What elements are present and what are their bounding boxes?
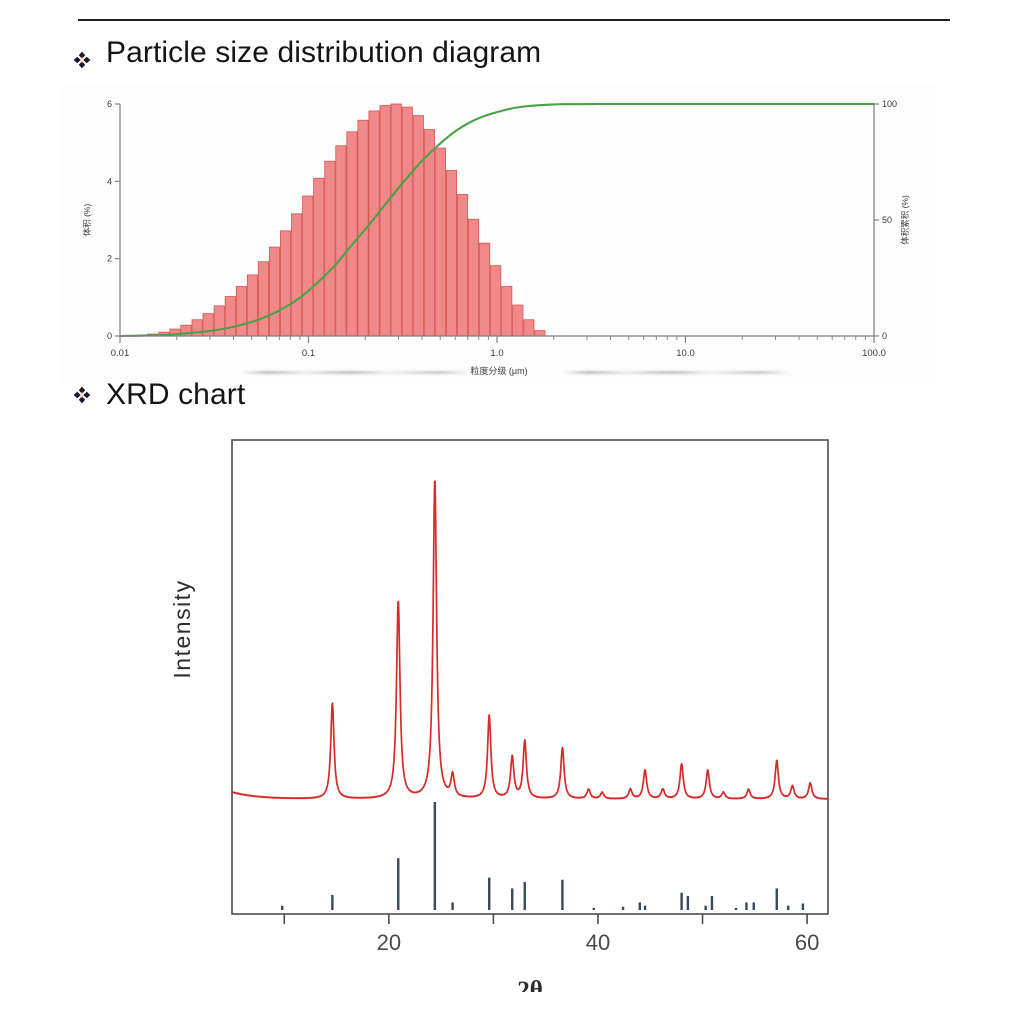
psd-histogram-bar [280, 231, 290, 336]
psd-histogram-bars [148, 104, 545, 336]
psd-histogram-bar [225, 297, 235, 336]
psd-histogram-bar [435, 148, 445, 336]
psd-y-axis-title: 体积 (%) [82, 204, 92, 237]
psd-y-tick-label: 6 [107, 99, 112, 109]
psd-y2-axis-title: 体积累积 (%) [900, 195, 910, 245]
psd-histogram-bar [203, 314, 213, 336]
particle-size-distribution-chart: 02460501000.010.11.010.0100.0体积 (%)体积累积 … [62, 84, 936, 384]
xrd-y-axis-title: Intensity [169, 579, 195, 678]
psd-histogram-bar [292, 214, 302, 336]
section-heading-label: Particle size distribution diagram [106, 38, 541, 68]
psd-y-tick-label: 0 [107, 331, 112, 341]
psd-histogram-bar [491, 266, 501, 336]
xrd-x-tick-label: 60 [795, 930, 819, 955]
psd-y-ticks: 0246 [107, 99, 120, 341]
xrd-chart: 2040602θIntensity [168, 432, 868, 992]
psd-histogram-bar [269, 247, 279, 336]
diamond-cluster-bullet-icon [72, 50, 92, 70]
psd-histogram-bar [424, 130, 434, 336]
section-heading-particle-size: Particle size distribution diagram [72, 38, 541, 68]
xrd-x-axis-title: 2θ [517, 977, 543, 992]
psd-histogram-bar [258, 262, 268, 336]
psd-y2-ticks: 050100 [874, 99, 897, 341]
xrd-x-tick-label: 40 [586, 930, 610, 955]
psd-histogram-bar [391, 104, 401, 336]
psd-histogram-bar [314, 178, 324, 336]
psd-histogram-bar [457, 194, 467, 336]
xrd-x-tick-label: 20 [377, 930, 401, 955]
psd-histogram-bar [380, 106, 390, 336]
particle-size-distribution-plot: 02460501000.010.11.010.0100.0体积 (%)体积累积 … [62, 84, 936, 384]
psd-legend-text-right [562, 371, 792, 374]
psd-x-ticks: 0.010.11.010.0100.0 [111, 336, 886, 359]
psd-histogram-bar [303, 196, 313, 336]
psd-y-tick-label: 2 [107, 254, 112, 264]
psd-y2-tick-label: 0 [882, 331, 887, 341]
psd-histogram-bar [347, 132, 357, 336]
psd-histogram-bar [535, 331, 545, 336]
psd-histogram-bar [336, 146, 346, 336]
psd-x-tick-label: 0.01 [111, 348, 130, 359]
psd-x-tick-label: 0.1 [302, 348, 315, 359]
psd-histogram-bar [524, 320, 534, 336]
diamond-cluster-bullet-icon [72, 385, 92, 405]
psd-histogram-bar [214, 306, 224, 336]
psd-x-tick-label: 10.0 [676, 348, 695, 359]
psd-y-tick-label: 4 [107, 176, 112, 186]
psd-histogram-bar [247, 275, 257, 336]
psd-histogram-bar [236, 287, 246, 336]
section-heading-label: XRD chart [106, 380, 245, 410]
psd-y2-tick-label: 50 [882, 215, 892, 225]
psd-y2-tick-label: 100 [882, 99, 897, 109]
psd-xaxis-title: 粒度分级 (μm) [470, 364, 527, 377]
section-heading-xrd: XRD chart [72, 380, 245, 410]
psd-histogram-bar [479, 243, 489, 336]
psd-histogram-bar [446, 171, 456, 336]
psd-histogram-bar [325, 161, 335, 336]
psd-x-tick-label: 100.0 [862, 348, 886, 359]
header-divider-rule [78, 19, 950, 21]
psd-histogram-bar [402, 107, 412, 336]
psd-histogram-bar [413, 116, 423, 336]
xrd-plot-frame [232, 440, 828, 914]
xrd-x-ticks: 204060 [284, 914, 819, 955]
psd-x-tick-label: 1.0 [490, 348, 503, 359]
psd-histogram-bar [513, 305, 523, 336]
psd-legend-text-left [240, 371, 472, 374]
psd-histogram-bar [468, 219, 478, 336]
xrd-pattern-plot: 2040602θIntensity [168, 432, 868, 992]
psd-histogram-bar [502, 287, 512, 336]
